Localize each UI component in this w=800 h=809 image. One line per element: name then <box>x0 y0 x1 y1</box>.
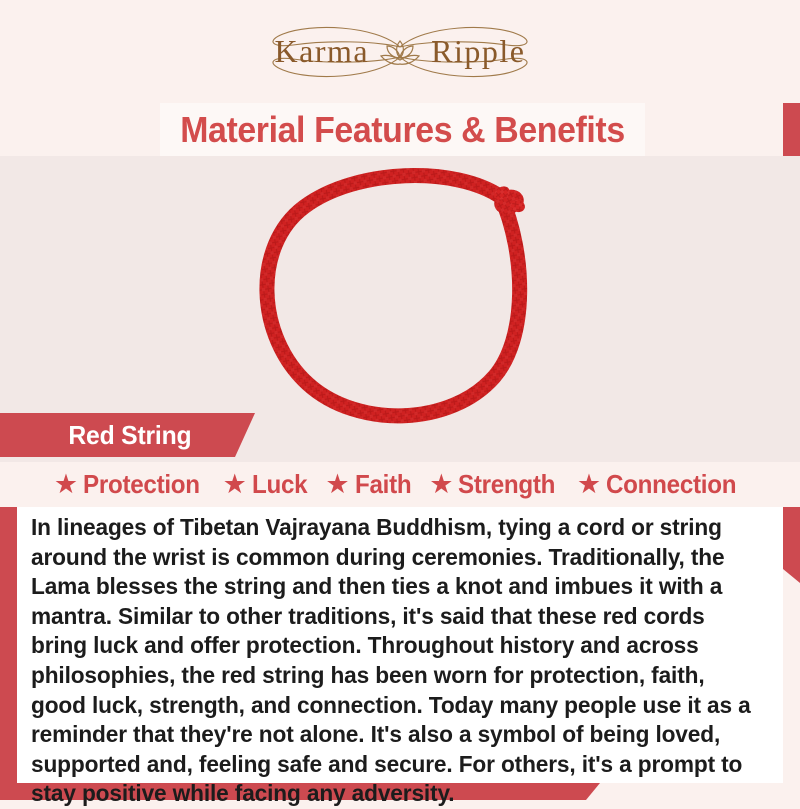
description-text: In lineages of Tibetan Vajrayana Buddhis… <box>31 513 765 809</box>
page-title: Material Features & Benefits <box>180 109 625 151</box>
page-header: Karma Ripple <box>0 0 800 103</box>
star-icon: ★ <box>54 471 78 498</box>
brand-logo: Karma Ripple <box>235 21 565 83</box>
benefit-label: Connection <box>606 469 736 500</box>
star-icon: ★ <box>577 471 601 498</box>
brand-name-right: Ripple <box>431 33 525 70</box>
title-band: Material Features & Benefits <box>160 103 645 156</box>
benefit-item-connection: ★ Connection <box>577 469 746 500</box>
product-name-banner: Red String <box>0 413 255 457</box>
benefit-label: Faith <box>355 469 411 500</box>
benefits-row: ★ Protection ★ Luck ★ Faith ★ Strength ★… <box>0 462 800 507</box>
description-panel: In lineages of Tibetan Vajrayana Buddhis… <box>17 507 783 783</box>
benefit-item-luck: ★ Luck <box>223 469 312 500</box>
benefit-item-protection: ★ Protection <box>54 469 209 500</box>
star-icon: ★ <box>325 471 349 498</box>
star-icon: ★ <box>223 471 247 498</box>
benefit-item-faith: ★ Faith <box>325 469 415 500</box>
red-string-bracelet-image <box>246 162 556 432</box>
product-name-label: Red String <box>0 420 191 451</box>
benefit-label: Luck <box>252 469 307 500</box>
benefit-label: Strength <box>458 469 555 500</box>
brand-name-left: Karma <box>275 33 370 70</box>
brand-name: Karma Ripple <box>275 33 526 70</box>
benefit-item-strength: ★ Strength <box>429 469 563 500</box>
benefit-label: Protection <box>83 469 200 500</box>
star-icon: ★ <box>429 471 453 498</box>
